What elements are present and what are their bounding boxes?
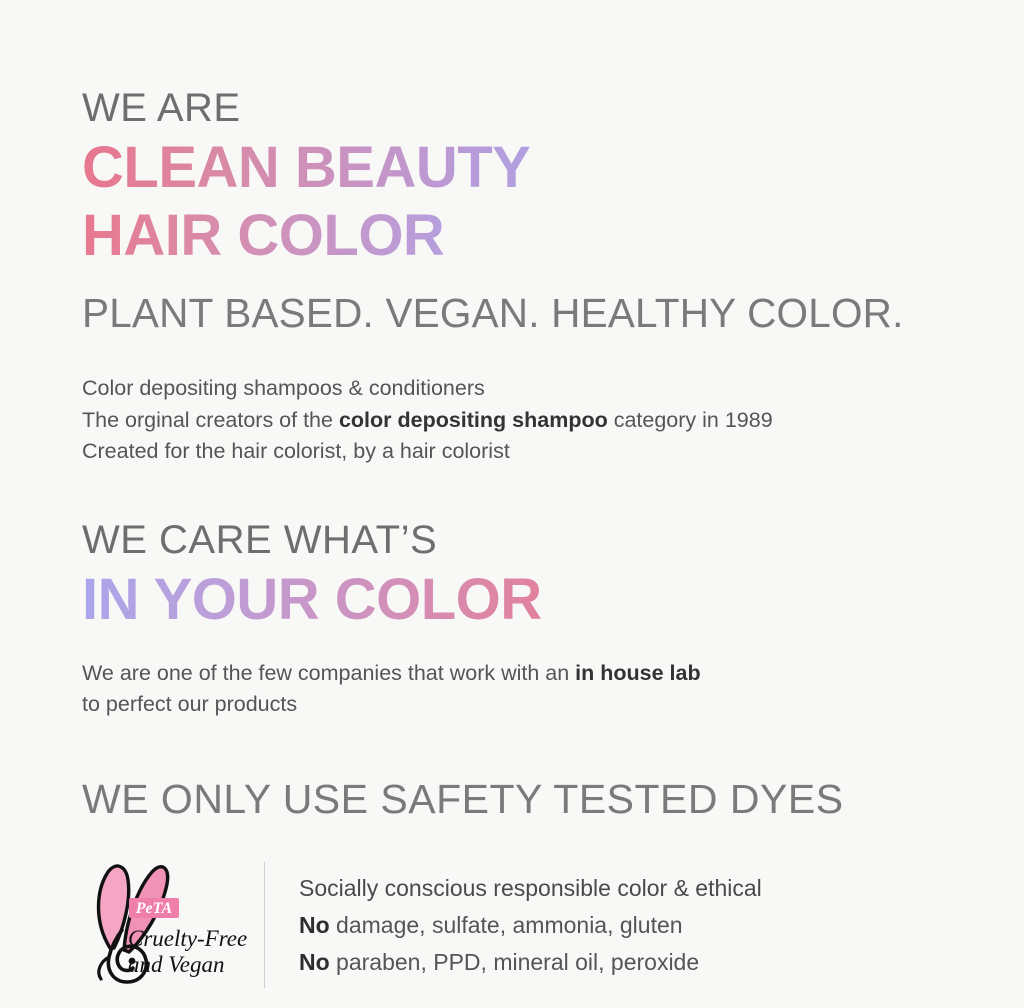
hero-headline-block: CLEAN BEAUTY HAIR COLOR — [82, 134, 944, 271]
peta-caption-line-1: Cruelty-Free — [128, 926, 247, 951]
intro-bullet-line-3: Created for the hair colorist, by a hair… — [82, 436, 944, 467]
hero-kicker: WE ARE — [82, 88, 944, 128]
care-headline-block: IN YOUR COLOR — [82, 566, 944, 634]
intro-bullets: Color depositing shampoos & conditioners… — [82, 373, 944, 467]
claim-lead: No — [299, 949, 330, 975]
care-copy-line-2: to perfect our products — [82, 689, 944, 720]
care-section: WE CARE WHAT’S IN YOUR COLOR We are one … — [82, 520, 944, 721]
intro-bullet-line-2-strong: color depositing shampoo — [339, 408, 608, 432]
claim-text: Socially conscious responsible color & e… — [299, 875, 762, 901]
care-kicker: WE CARE WHAT’S — [82, 520, 944, 560]
care-headline: IN YOUR COLOR — [82, 566, 542, 634]
intro-bullet-line-2: The orginal creators of the color deposi… — [82, 405, 944, 436]
dyes-heading: WE ONLY USE SAFETY TESTED DYES — [82, 779, 944, 820]
hero-headline-line-1: CLEAN BEAUTY — [82, 134, 530, 202]
claim-item: No paraben, PPD, mineral oil, peroxide — [299, 944, 762, 981]
claim-text: paraben, PPD, mineral oil, peroxide — [330, 949, 699, 975]
care-copy-line-1: We are one of the few companies that wor… — [82, 658, 944, 689]
hero-tagline: PLANT BASED. VEGAN. HEALTHY COLOR. — [82, 293, 944, 334]
claim-lead: No — [299, 912, 330, 938]
peta-bunny-icon: PeTA Cruelty-Free and Vegan — [82, 860, 252, 988]
intro-bullet-line-2-suffix: category in 1989 — [608, 408, 773, 432]
certification-row: PeTA Cruelty-Free and Vegan Socially con… — [82, 860, 944, 988]
marketing-graphic: WE ARE CLEAN BEAUTY HAIR COLOR PLANT BAS… — [0, 0, 1024, 1008]
hero-section: WE ARE CLEAN BEAUTY HAIR COLOR PLANT BAS… — [82, 88, 944, 333]
care-copy: We are one of the few companies that wor… — [82, 658, 944, 721]
claim-text: damage, sulfate, ammonia, gluten — [330, 912, 683, 938]
claim-item: Socially conscious responsible color & e… — [299, 870, 762, 907]
peta-cruelty-free-logo: PeTA Cruelty-Free and Vegan — [82, 860, 252, 988]
peta-caption-line-2: and Vegan — [128, 952, 224, 977]
claim-item: No damage, sulfate, ammonia, gluten — [299, 907, 762, 944]
care-copy-strong: in house lab — [575, 661, 700, 685]
peta-badge-text: PeTA — [135, 900, 173, 917]
intro-bullet-line-1: Color depositing shampoos & conditioners — [82, 373, 944, 404]
intro-bullet-line-2-prefix: The orginal creators of the — [82, 408, 339, 432]
claims-list: Socially conscious responsible color & e… — [299, 860, 762, 988]
vertical-divider — [264, 862, 265, 988]
hero-headline-line-2: HAIR COLOR — [82, 202, 444, 270]
care-copy-prefix: We are one of the few companies that wor… — [82, 661, 575, 685]
